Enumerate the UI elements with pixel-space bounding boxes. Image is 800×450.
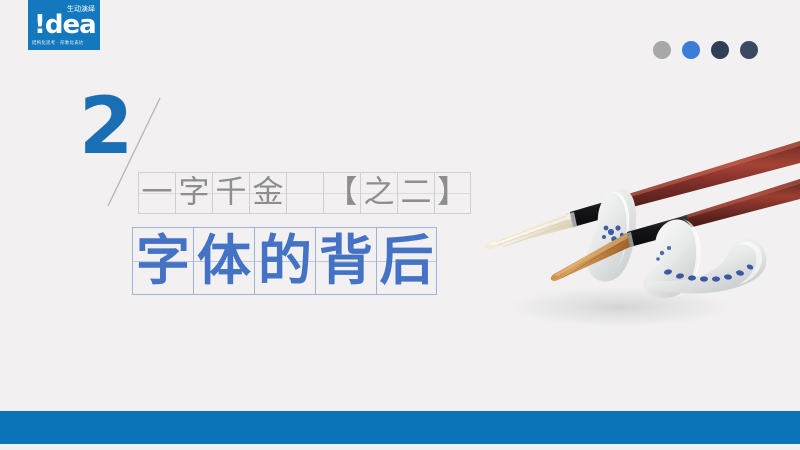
subtitle-char: 【 (324, 178, 360, 209)
subtitle-cell: 金 (249, 172, 286, 214)
title-cell: 字 (132, 227, 193, 295)
title-char: 字 (133, 234, 193, 288)
subtitle-cell: 】 (434, 172, 471, 214)
logo-wordmark: !dea (34, 12, 96, 38)
title-grid: 字体的背后 (132, 227, 437, 295)
logo-inner: 生动演绎 !dea 结构化思考 · 形象化表达 (28, 0, 100, 50)
slide-canvas: 生动演绎 !dea 结构化思考 · 形象化表达 2 (0, 0, 800, 450)
decorative-dots (653, 41, 758, 59)
bottom-edge-strip (0, 444, 800, 450)
title-cell: 的 (254, 227, 315, 295)
subtitle-char: 一 (139, 178, 175, 209)
subtitle-cell: 二 (397, 172, 434, 214)
dot-3-icon (711, 41, 729, 59)
calligraphy-brushes-photo (470, 95, 800, 335)
subtitle-cell: 一 (138, 172, 175, 214)
subtitle-char: 千 (213, 178, 249, 209)
dot-4-icon (740, 41, 758, 59)
subtitle-char: 】 (435, 178, 470, 209)
subtitle-char: 字 (176, 178, 212, 209)
cell-midline (287, 193, 323, 194)
title-char: 的 (255, 234, 315, 288)
subtitle-char: 二 (398, 178, 434, 209)
subtitle-cell: 【 (323, 172, 360, 214)
subtitle-cell: 字 (175, 172, 212, 214)
title-cell: 背 (315, 227, 376, 295)
title-cell: 体 (193, 227, 254, 295)
subtitle-cell: 千 (212, 172, 249, 214)
brush-rest-front (643, 219, 766, 298)
title-char: 体 (194, 234, 254, 288)
idea-logo[interactable]: 生动演绎 !dea 结构化思考 · 形象化表达 (28, 0, 100, 50)
dot-1-icon (653, 41, 671, 59)
title-char: 后 (377, 234, 436, 288)
dot-2-icon (682, 41, 700, 59)
subtitle-cell (286, 172, 323, 214)
subtitle-cell: 之 (360, 172, 397, 214)
bottom-accent-bar (0, 411, 800, 444)
title-cell: 后 (376, 227, 437, 295)
subtitle-grid: 一字千金【之二】 (138, 172, 471, 214)
logo-tagline-bottom: 结构化思考 · 形象化表达 (32, 40, 84, 46)
subtitle-char: 金 (250, 178, 286, 209)
subtitle-char: 之 (361, 178, 397, 209)
title-char: 背 (316, 234, 376, 288)
